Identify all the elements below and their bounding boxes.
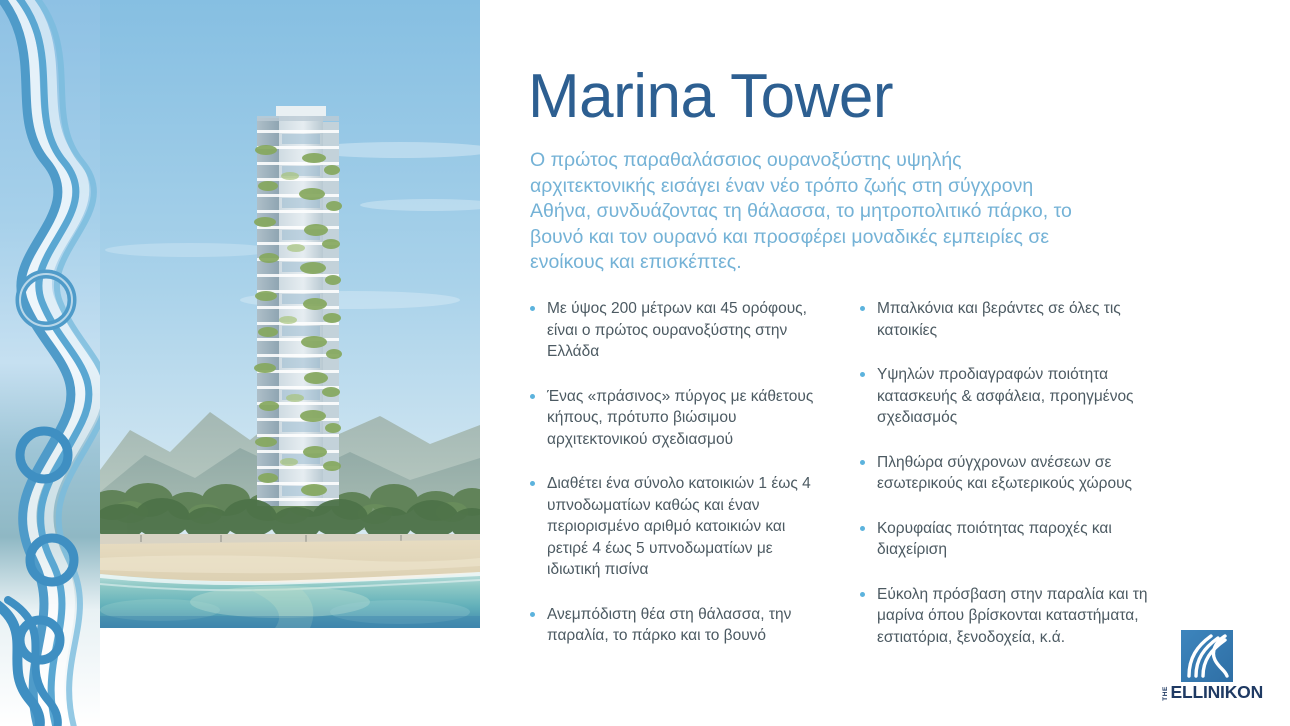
list-item-text: Εύκολη πρόσβαση στην παραλία και τη μαρί…: [877, 586, 1148, 646]
ellinikon-logo-mark-icon: [1181, 630, 1233, 682]
list-item: Με ύψος 200 μέτρων και 45 ορόφους, είναι…: [528, 298, 822, 363]
decorative-wave-band: [0, 0, 100, 726]
logo-prefix: THE: [1163, 686, 1170, 701]
list-item-text: Ανεμπόδιστη θέα στη θάλασσα, την παραλία…: [547, 606, 791, 645]
bullet-column-right: Μπαλκόνια και βεράντες σε όλες τις κατοι…: [858, 298, 1178, 648]
bullet-dot-icon: [860, 592, 865, 597]
ellinikon-logo: THE ELLINIKON: [1163, 630, 1273, 702]
list-item: Εύκολη πρόσβαση στην παραλία και τη μαρί…: [858, 584, 1178, 649]
bullet-dot-icon: [860, 526, 865, 531]
list-item-text: Ένας «πράσινος» πύργος με κάθετους κήπου…: [547, 388, 813, 448]
bullet-dot-icon: [530, 306, 535, 311]
list-item: Διαθέτει ένα σύνολο κατοικιών 1 έως 4 υπ…: [528, 473, 822, 581]
list-item: Πληθώρα σύγχρονων ανέσεων σε εσωτερικούς…: [858, 452, 1178, 495]
intro-paragraph: Ο πρώτος παραθαλάσσιος ουρανοξύστης υψηλ…: [530, 148, 1090, 276]
list-item-text: Πληθώρα σύγχρονων ανέσεων σε εσωτερικούς…: [877, 454, 1132, 493]
bullet-dot-icon: [860, 306, 865, 311]
list-item: Κορυφαίας ποιότητας παροχές και διαχείρι…: [858, 518, 1178, 561]
list-item-text: Μπαλκόνια και βεράντες σε όλες τις κατοι…: [877, 300, 1121, 339]
list-item: Ένας «πράσινος» πύργος με κάθετους κήπου…: [528, 386, 822, 451]
bullet-dot-icon: [530, 481, 535, 486]
list-item-text: Υψηλών προδιαγραφών ποιότητα κατασκευής …: [877, 366, 1134, 426]
list-item-text: Κορυφαίας ποιότητας παροχές και διαχείρι…: [877, 520, 1112, 559]
bullet-dot-icon: [530, 612, 535, 617]
bullet-column-left: Με ύψος 200 μέτρων και 45 ορόφους, είναι…: [528, 298, 822, 648]
list-item: Υψηλών προδιαγραφών ποιότητα κατασκευής …: [858, 364, 1178, 429]
bullet-dot-icon: [860, 372, 865, 377]
list-item-text: Με ύψος 200 μέτρων και 45 ορόφους, είναι…: [547, 300, 807, 360]
page-title: Marina Tower: [528, 66, 893, 128]
list-item: Ανεμπόδιστη θέα στη θάλασσα, την παραλία…: [528, 604, 822, 647]
content-column: Marina Tower Ο πρώτος παραθαλάσσιος ουρα…: [528, 0, 1228, 726]
feature-bullets: Με ύψος 200 μέτρων και 45 ορόφους, είναι…: [528, 298, 1188, 648]
slide-root: Marina Tower Ο πρώτος παραθαλάσσιος ουρα…: [0, 0, 1290, 726]
logo-name: ELLINIKON: [1171, 684, 1264, 702]
list-item: Μπαλκόνια και βεράντες σε όλες τις κατοι…: [858, 298, 1178, 341]
list-item-text: Διαθέτει ένα σύνολο κατοικιών 1 έως 4 υπ…: [547, 475, 811, 578]
bullet-dot-icon: [860, 460, 865, 465]
ellinikon-wordmark: THE ELLINIKON: [1163, 684, 1263, 702]
marina-tower-photo: [100, 0, 480, 628]
bullet-dot-icon: [530, 394, 535, 399]
